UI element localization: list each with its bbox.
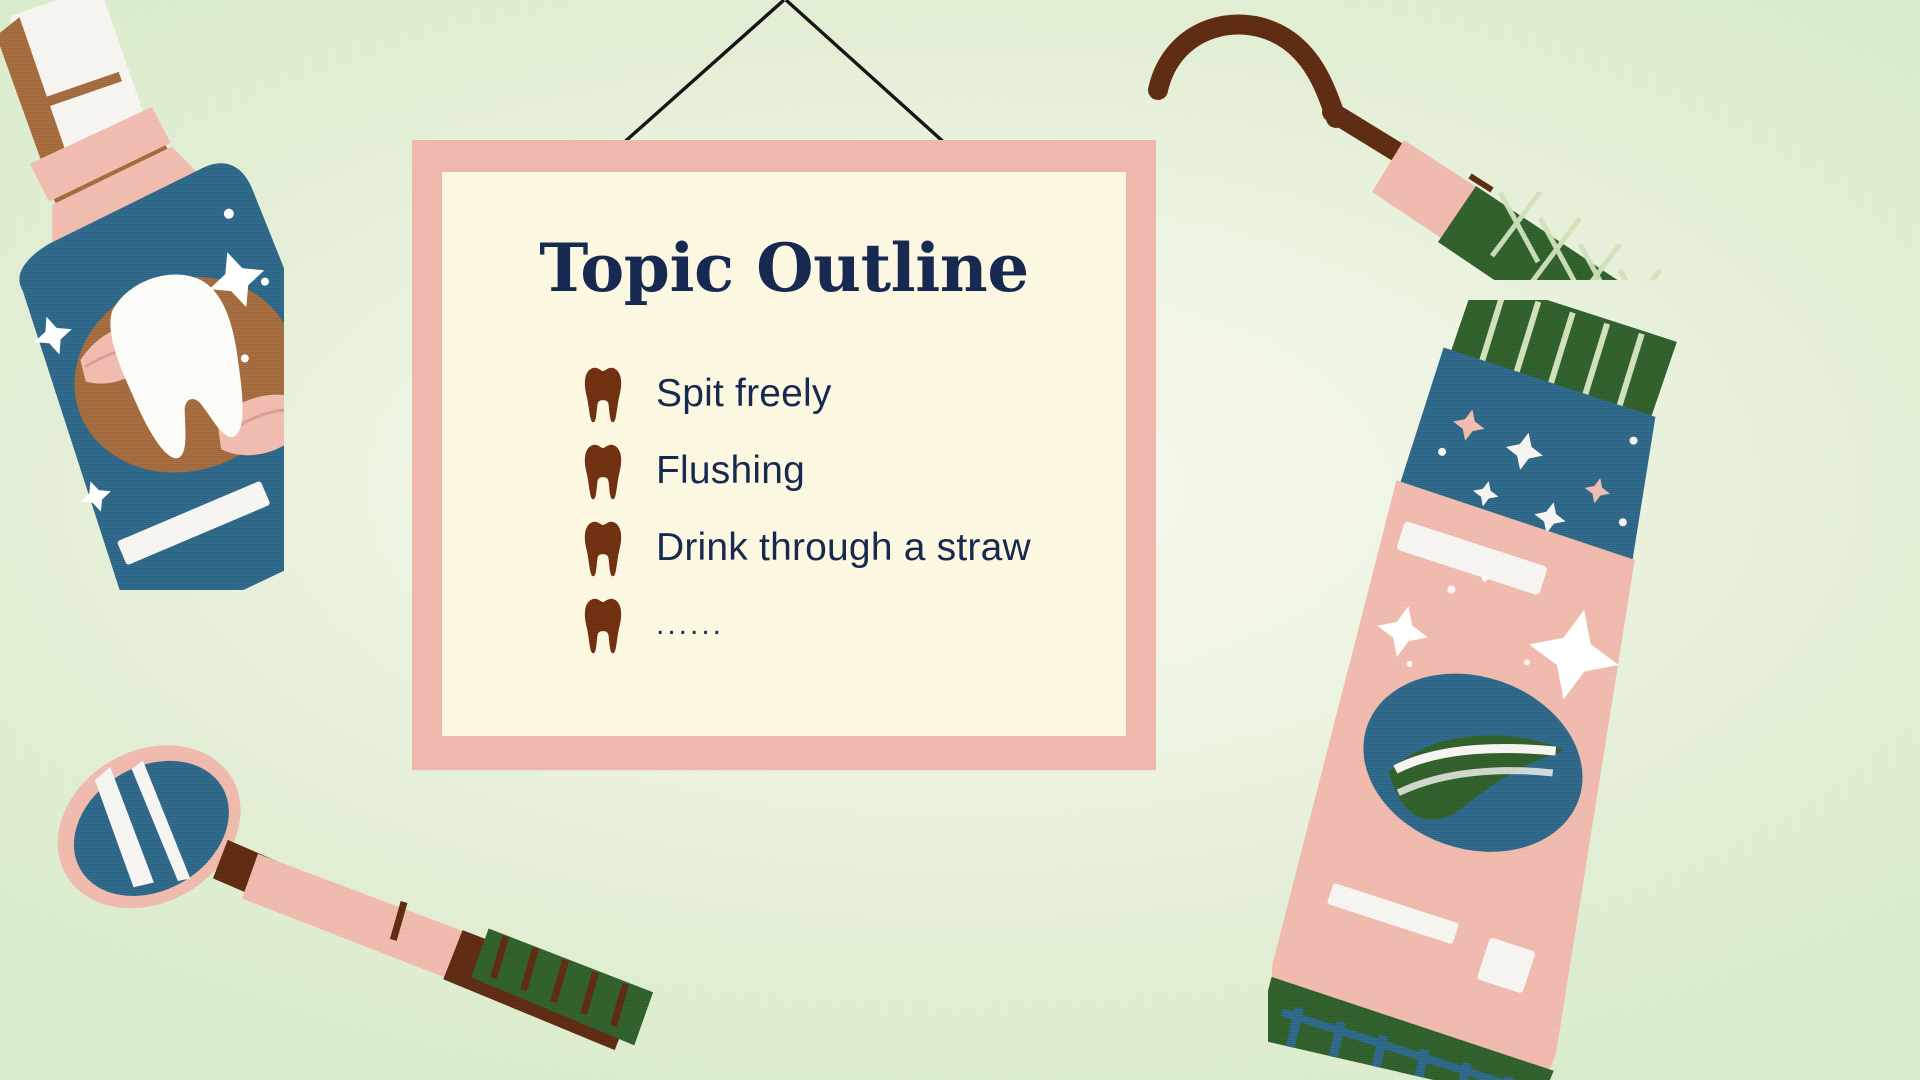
tooth-icon — [582, 442, 624, 500]
list-item-label: ...... — [656, 608, 724, 642]
tooth-icon — [582, 519, 624, 577]
list-item[interactable]: Flushing — [582, 432, 1082, 509]
outline-list: Spit freely Flushing Drink through a str… — [486, 355, 1082, 663]
frame-inner-card: Topic Outline Spit freely Flushing — [442, 172, 1126, 736]
list-item-label: Flushing — [656, 449, 805, 493]
dental-scaler-illustration — [1120, 0, 1920, 280]
list-item-label: Drink through a straw — [656, 526, 1031, 570]
toothpaste-tube-illustration — [1268, 300, 1920, 1080]
tooth-icon — [582, 365, 624, 423]
list-item[interactable]: Spit freely — [582, 355, 1082, 432]
list-item[interactable]: ...... — [582, 586, 1082, 663]
list-item[interactable]: Drink through a straw — [582, 509, 1082, 586]
tooth-icon — [582, 596, 624, 654]
slide-canvas: Topic Outline Spit freely Flushing — [0, 0, 1920, 1080]
picture-frame: Topic Outline Spit freely Flushing — [412, 140, 1156, 770]
list-item-label: Spit freely — [656, 372, 832, 416]
page-title: Topic Outline — [486, 234, 1082, 303]
mouthwash-bottle-illustration — [0, 0, 284, 590]
